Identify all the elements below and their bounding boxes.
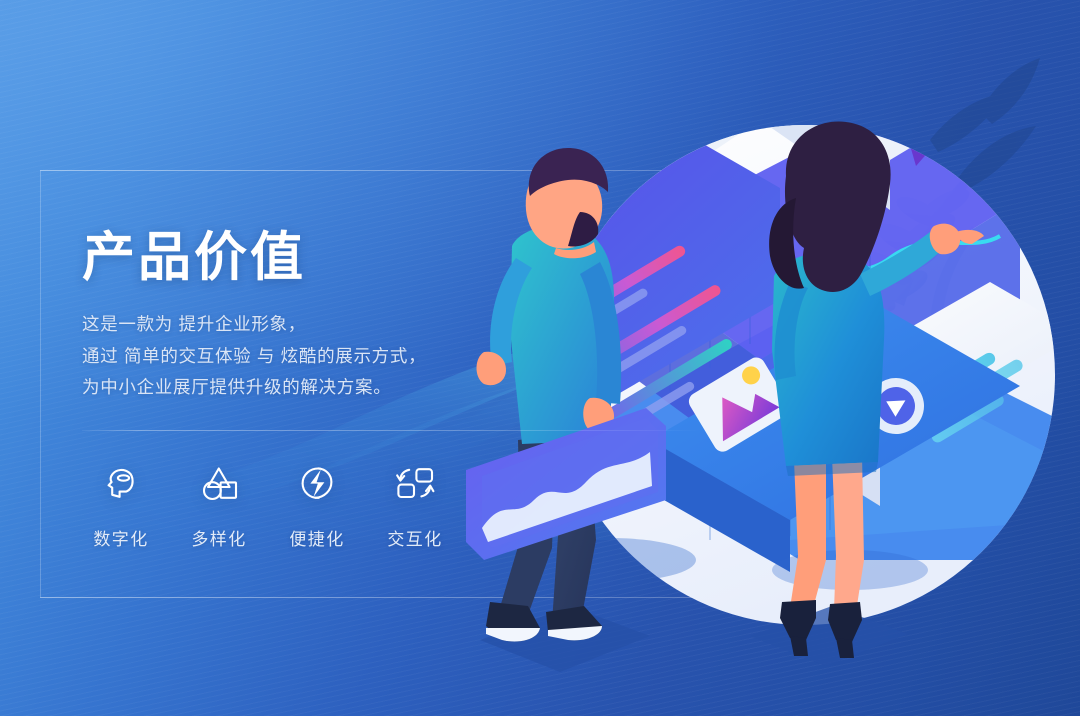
section-divider [82, 430, 702, 431]
exchange-arrows-icon [392, 460, 438, 506]
description-line-3: 为中小企业展厅提供升级的解决方案。 [82, 372, 542, 403]
isometric-dashboard-illustration [460, 0, 1080, 716]
copy-block: 产品价值 这是一款为 提升企业形象， 通过 简单的交互体验 与 炫酷的展示方式，… [82, 228, 542, 403]
banner-stage: 产品价值 这是一款为 提升企业形象， 通过 简单的交互体验 与 炫酷的展示方式，… [0, 0, 1080, 716]
feature-label: 多样化 [191, 525, 246, 550]
description-line-1: 这是一款为 提升企业形象， [82, 309, 542, 340]
description-line-2: 通过 简单的交互体验 与 炫酷的展示方式， [82, 341, 542, 372]
feature-item-diverse[interactable]: 多样化 [170, 460, 268, 550]
feature-label: 数字化 [93, 525, 148, 550]
page-title: 产品价值 [82, 228, 542, 287]
lightning-circle-icon [294, 460, 340, 506]
feature-item-interactive[interactable]: 交互化 [366, 460, 464, 550]
feature-label: 交互化 [387, 525, 442, 550]
shapes-icon [196, 460, 242, 506]
head-profile-icon [98, 460, 144, 506]
feature-item-convenient[interactable]: 便捷化 [268, 460, 366, 550]
feature-item-digital[interactable]: 数字化 [72, 460, 170, 550]
feature-list: 数字化 多样化 便捷化 [72, 460, 464, 550]
feature-label: 便捷化 [289, 525, 344, 550]
page-description: 这是一款为 提升企业形象， 通过 简单的交互体验 与 炫酷的展示方式， 为中小企… [82, 309, 542, 402]
